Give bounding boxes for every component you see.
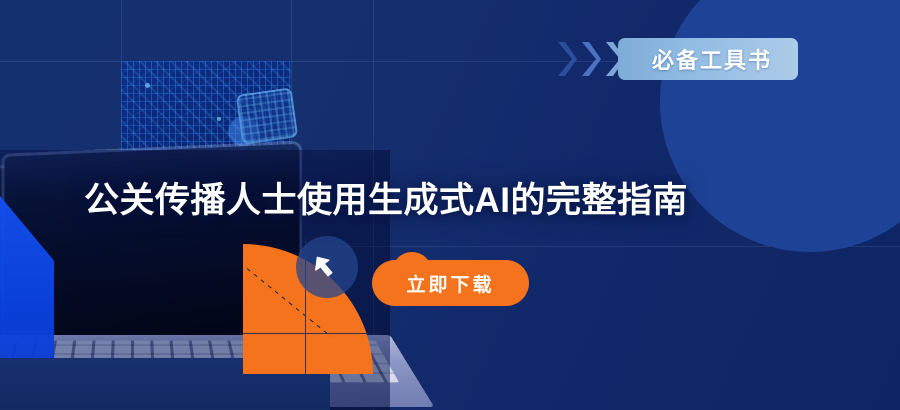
promo-banner: 必备工具书 公关传播人士使用生成式AI的完整指南 立即下载 [0,0,900,410]
cursor-badge [296,236,358,298]
download-button[interactable]: 立即下载 [372,260,529,306]
badge-group: 必备工具书 [556,38,798,80]
chevron-right-icon [580,38,602,80]
arrow-cursor-icon [313,253,341,281]
badge-label: 必备工具书 [618,38,798,80]
page-title: 公关传播人士使用生成式AI的完整指南 [84,172,824,223]
chip-graphic [236,87,298,144]
chevron-right-icon [556,38,578,80]
solder-dot [217,117,221,121]
crosshair-line-horizontal [240,333,380,334]
solder-dot [145,83,150,88]
